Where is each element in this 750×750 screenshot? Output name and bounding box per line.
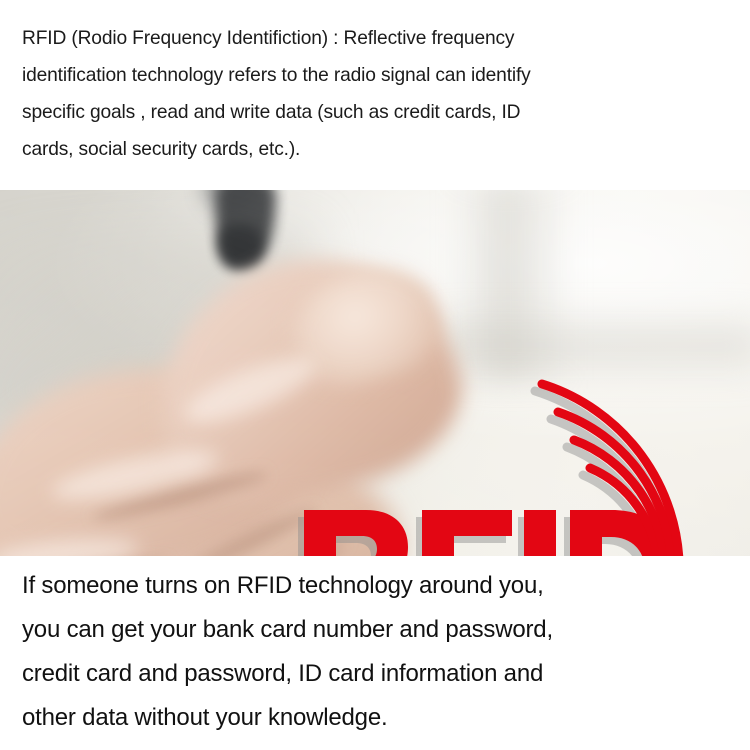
bottom-description-text: If someone turns on RFID technology arou… [0, 556, 750, 750]
bottom-text-line-2: you can get your bank card number and pa… [22, 608, 728, 652]
top-text-line-4: cards, social security cards, etc.). [22, 131, 728, 168]
bottom-text-line-1: If someone turns on RFID technology arou… [22, 564, 728, 608]
top-text-line-3: specific goals , read and write data (su… [22, 94, 728, 131]
top-text-line-2: identification technology refers to the … [22, 57, 728, 94]
photo-hand [0, 310, 570, 556]
product-description-image: RFID (Rodio Frequency Identifiction) : R… [0, 0, 750, 750]
bottom-text-line-4: other data without your knowledge. [22, 696, 728, 740]
top-description-text: RFID (Rodio Frequency Identifiction) : R… [0, 0, 750, 190]
photo-dark-object-tip [218, 224, 262, 270]
bottom-text-line-3: credit card and password, ID card inform… [22, 652, 728, 696]
rfid-hand-photo [0, 190, 750, 556]
top-text-line-1: RFID (Rodio Frequency Identifiction) : R… [22, 20, 728, 57]
